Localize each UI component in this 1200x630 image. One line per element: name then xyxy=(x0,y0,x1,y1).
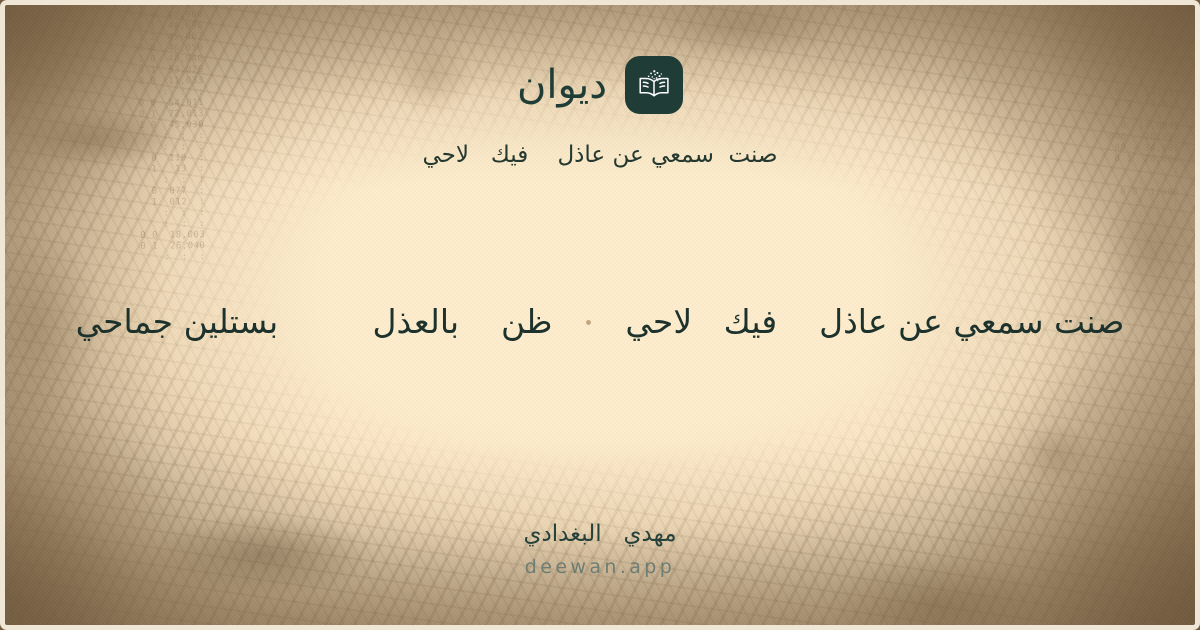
share-card: 40,072 - 1 40,900 0 0 44,096 1 0 45,007 … xyxy=(0,0,1200,630)
verse-line: صنت سمعي عن عاذل فيك لاحي ظن بالعذل بستل… xyxy=(0,300,1200,345)
brand-name: ديوان xyxy=(517,65,607,105)
dot-separator-icon xyxy=(586,320,591,325)
poet-name: مهدي البغدادي xyxy=(0,521,1200,547)
card-content: ديوان صنت سمعي عن عاذل فيك لاحي صنت سمعي… xyxy=(0,0,1200,630)
verse-first-hemistich: صنت سمعي عن عاذل فيك لاحي xyxy=(625,300,1124,345)
brand-header: ديوان xyxy=(517,56,683,114)
card-footer: مهدي البغدادي deewan.app xyxy=(0,521,1200,578)
site-url[interactable]: deewan.app xyxy=(0,556,1200,578)
poem-subtitle: صنت سمعي عن عاذل فيك لاحي xyxy=(422,142,777,168)
open-book-with-sparkles-icon xyxy=(625,56,683,114)
verse-second-hemistich: ظن بالعذل بستلين جماحي xyxy=(76,300,553,345)
